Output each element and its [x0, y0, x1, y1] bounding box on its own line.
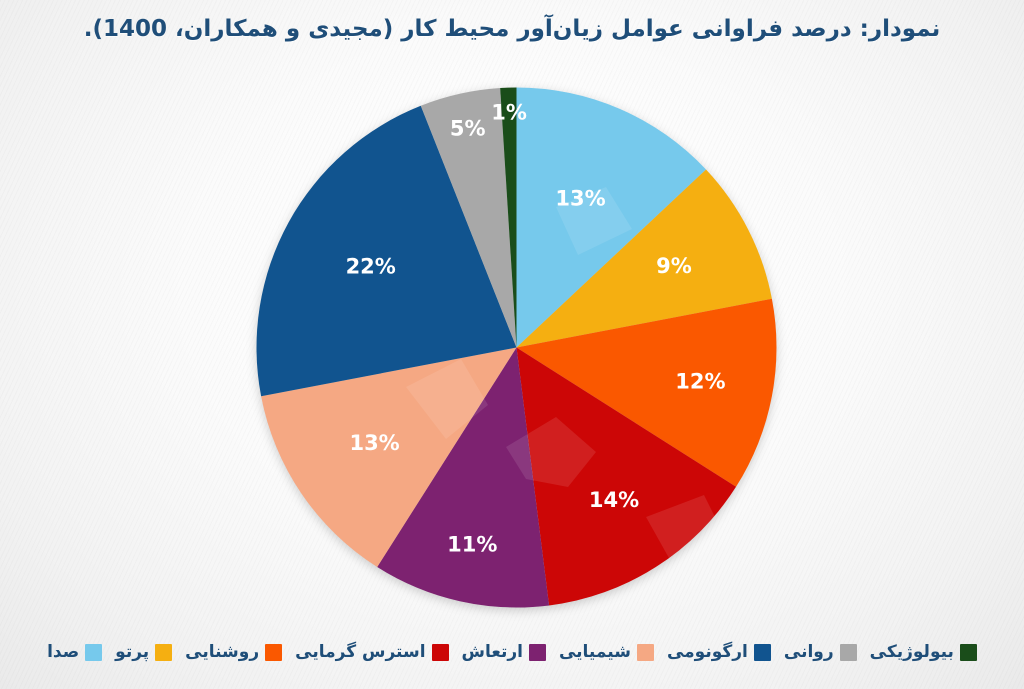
- legend-item-label: روشنایی: [185, 644, 259, 661]
- pie-chart: 13%9%12%14%11%13%22%5%1%: [256, 87, 777, 608]
- chart-legend: بیولوژیکیروانیارگونومیشیمیاییارتعاشاسترس…: [0, 631, 1024, 673]
- chart-title: نمودار: درصد فراوانی عوامل زیان‌آور محیط…: [0, 14, 1024, 45]
- legend-item[interactable]: شیمیایی: [559, 644, 654, 661]
- pie-chart-svg: 13%9%12%14%11%13%22%5%1%: [256, 87, 777, 608]
- legend-swatch-icon: [529, 644, 546, 661]
- legend-swatch-icon: [155, 644, 172, 661]
- legend-swatch-icon: [754, 644, 771, 661]
- legend-item-label: صدا: [47, 644, 79, 661]
- legend-item-label: روانی: [784, 644, 834, 661]
- legend-swatch-icon: [432, 644, 449, 661]
- legend-item[interactable]: روانی: [784, 644, 857, 661]
- legend-item-label: ارتعاش: [462, 644, 523, 661]
- legend-swatch-icon: [960, 644, 977, 661]
- chart-page: نمودار: درصد فراوانی عوامل زیان‌آور محیط…: [0, 0, 1024, 689]
- legend-swatch-icon: [840, 644, 857, 661]
- legend-item[interactable]: صدا: [47, 644, 102, 661]
- legend-item[interactable]: پرتو: [115, 644, 172, 661]
- legend-item-label: بیولوژیکی: [870, 644, 954, 661]
- legend-swatch-icon: [85, 644, 102, 661]
- legend-item[interactable]: بیولوژیکی: [870, 644, 977, 661]
- legend-item-label: پرتو: [115, 644, 149, 661]
- legend-item[interactable]: ارتعاش: [462, 644, 546, 661]
- legend-swatch-icon: [265, 644, 282, 661]
- legend-item[interactable]: استرس گرمایی: [295, 644, 448, 661]
- legend-item-label: استرس گرمایی: [295, 644, 425, 661]
- pie-slices: [257, 87, 777, 607]
- legend-item-label: ارگونومی: [667, 644, 748, 661]
- legend-item[interactable]: روشنایی: [185, 644, 282, 661]
- legend-item-label: شیمیایی: [559, 644, 631, 661]
- legend-item[interactable]: ارگونومی: [667, 644, 771, 661]
- legend-swatch-icon: [637, 644, 654, 661]
